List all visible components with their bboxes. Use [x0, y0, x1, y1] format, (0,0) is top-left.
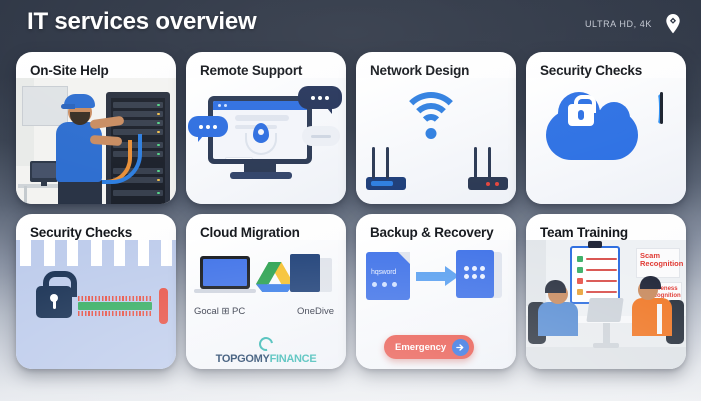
remote-support-illustration: [186, 78, 346, 204]
progress-bar: [78, 296, 152, 316]
network-design-illustration: [356, 78, 516, 204]
router-icon: [468, 177, 508, 190]
router-icon: [366, 177, 406, 190]
service-card-remote-support[interactable]: Remote Support: [186, 52, 346, 204]
card-title: On-Site Help: [16, 52, 176, 78]
watermark-part-b: FINANCE: [270, 353, 317, 365]
service-card-security-checks-cloud[interactable]: Security Checks: [526, 52, 686, 204]
source-file-icon: hqsword: [366, 252, 410, 300]
padlock-icon: [36, 286, 72, 318]
arrow-right-icon: [452, 339, 469, 356]
wifi-icon: [400, 92, 462, 140]
location-pin-icon: [661, 12, 685, 36]
checklist-clipboard-icon: [570, 246, 620, 304]
cloud-migration-illustration: Gocal ⊞ PC OneDive TOPGOMYFINANCE: [186, 240, 346, 369]
backup-recovery-illustration: hqsword Emergency: [356, 240, 516, 369]
card-title: Remote Support: [186, 52, 346, 78]
lock-icon: [568, 104, 594, 126]
emergency-button[interactable]: Emergency: [384, 335, 474, 359]
cloud-label-left: Gocal ⊞ PC: [194, 306, 245, 317]
chat-bubble-icon: [188, 116, 228, 137]
card-title: Backup & Recovery: [356, 214, 516, 240]
chat-bubble-icon: [298, 86, 342, 109]
card-title: Security Checks: [16, 214, 176, 240]
poster-scam-recognition: Scam Recognition: [636, 248, 680, 278]
card-title: Security Checks: [526, 52, 686, 78]
card-title: Cloud Migration: [186, 214, 346, 240]
emergency-button-label: Emergency: [395, 342, 446, 353]
poster-title: Scam Recognition: [640, 252, 683, 268]
laptop-icon: [200, 256, 250, 289]
signal-waves-icon: [632, 92, 670, 126]
service-card-backup-recovery[interactable]: Backup & Recovery hqsword Emergency: [356, 214, 516, 369]
service-card-network-design[interactable]: Network Design: [356, 52, 516, 204]
header: IT services overview ULTRA HD, 4K: [0, 0, 701, 48]
card-title: Team Training: [526, 214, 686, 240]
transfer-arrow-icon: [416, 272, 446, 281]
cloud-label-right: OneDive: [297, 306, 334, 317]
on-site-help-illustration: [16, 78, 176, 204]
security-checks-bar-illustration: [16, 240, 176, 369]
service-card-security-checks-bar[interactable]: Security Checks: [16, 214, 176, 369]
quality-badge: ULTRA HD, 4K: [585, 12, 685, 36]
slide-canvas: IT services overview ULTRA HD, 4K On-Sit…: [0, 0, 701, 401]
team-training-illustration: Scam Recognition Awareness Recognition: [526, 240, 686, 369]
quality-badge-label: ULTRA HD, 4K: [585, 19, 652, 29]
watermark: TOPGOMYFINANCE: [186, 353, 346, 365]
service-card-team-training[interactable]: Team Training Scam Recognition Awareness…: [526, 214, 686, 369]
card-title: Network Design: [356, 52, 516, 78]
onedrive-folder-icon: [290, 254, 332, 294]
service-card-on-site-help[interactable]: On-Site Help: [16, 52, 176, 204]
target-file-icon: [456, 250, 502, 300]
security-checks-cloud-illustration: [526, 78, 686, 204]
service-card-grid: On-Site Help: [16, 52, 687, 369]
file-label: hqsword: [371, 269, 396, 276]
service-card-cloud-migration[interactable]: Cloud Migration Gocal ⊞ PC On: [186, 214, 346, 369]
watermark-part-a: TOPGOMY: [216, 353, 270, 365]
page-title: IT services overview: [27, 8, 257, 36]
